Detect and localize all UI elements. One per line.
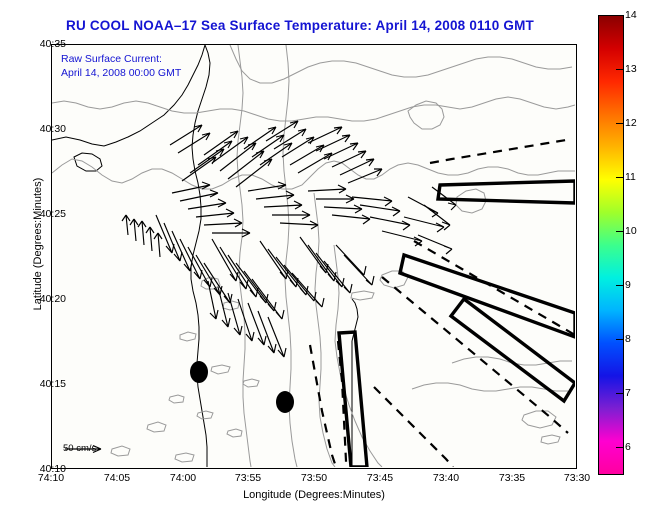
- station-marker[interactable]: [276, 391, 294, 413]
- x-tick-label: 73:45: [367, 472, 393, 484]
- colorbar-tick-mark: [616, 285, 624, 286]
- x-tick-label: 73:50: [301, 472, 327, 484]
- colorbar-tick-label: 8: [625, 333, 631, 345]
- colorbar-tick-label: 11: [625, 171, 636, 183]
- x-tick-label: 73:30: [564, 472, 590, 484]
- colorbar-tick-label: 7: [625, 387, 631, 399]
- colorbar-tick-label: 10: [625, 225, 637, 237]
- x-tick-label: 73:35: [499, 472, 525, 484]
- y-tick-label: 40:15: [40, 378, 66, 390]
- x-tick-label: 74:10: [38, 472, 64, 484]
- colorbar-tick-mark: [616, 123, 624, 124]
- y-axis-label: Latitude (Degrees:Minutes): [32, 144, 44, 344]
- map-plot-area[interactable]: Raw Surface Current: April 14, 2008 00:0…: [51, 44, 577, 469]
- vector-scale-legend: 50 cm/s: [63, 443, 96, 456]
- colorbar-tick-label: 6: [625, 441, 631, 453]
- y-tick-label: 40:30: [40, 123, 66, 135]
- right-arrow-icon: [63, 443, 109, 455]
- figure-canvas: RU COOL NOAA–17 Sea Surface Temperature:…: [0, 0, 651, 519]
- page-title: RU COOL NOAA–17 Sea Surface Temperature:…: [0, 18, 600, 33]
- colorbar-tick-mark: [616, 393, 624, 394]
- shipping-lane-solid-layer: [339, 181, 575, 467]
- colorbar-tick-mark: [616, 231, 624, 232]
- colorbar-gradient: [599, 16, 623, 474]
- x-tick-label: 74:00: [170, 472, 196, 484]
- colorbar-tick-mark: [616, 69, 624, 70]
- colorbar-tick-mark: [616, 339, 624, 340]
- colorbar-tick-label: 14: [625, 9, 637, 21]
- station-marker-layer[interactable]: [190, 361, 294, 413]
- colorbar-tick-mark: [616, 177, 624, 178]
- colorbar-tick-mark: [616, 15, 624, 16]
- map-graphics: [52, 45, 575, 467]
- y-tick-label: 40:35: [40, 38, 66, 50]
- x-tick-label: 73:55: [235, 472, 261, 484]
- x-axis-label: Longitude (Degrees:Minutes): [51, 489, 577, 501]
- colorbar[interactable]: [598, 15, 624, 475]
- colorbar-tick-label: 12: [625, 117, 637, 129]
- shipping-lane-dashed-layer: [310, 139, 575, 467]
- x-tick-label: 73:40: [433, 472, 459, 484]
- colorbar-tick-mark: [616, 447, 624, 448]
- station-marker[interactable]: [190, 361, 208, 383]
- colorbar-tick-label: 13: [625, 63, 637, 75]
- x-tick-label: 74:05: [104, 472, 130, 484]
- colorbar-tick-label: 9: [625, 279, 631, 291]
